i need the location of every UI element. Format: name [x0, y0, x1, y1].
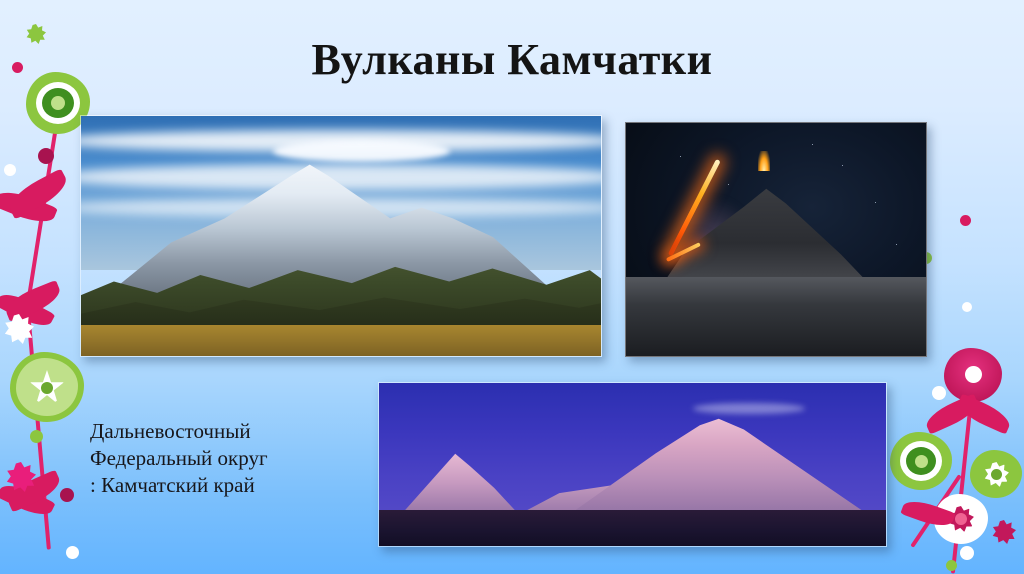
- white-flower-icon: [934, 494, 988, 544]
- photo-snow-capped-volcano-daytime[interactable]: [80, 115, 602, 357]
- pink-flower-icon: [944, 348, 1002, 402]
- flower-stem-branch: [910, 474, 961, 548]
- green-dot-icon: [30, 430, 43, 443]
- lenticular-cloud-shape: [273, 140, 450, 162]
- white-dot-icon: [962, 302, 972, 312]
- leaf-shape: [2, 280, 64, 322]
- green-flower-icon: [970, 450, 1022, 498]
- caption-line-2: Федеральный округ: [90, 445, 390, 472]
- leaf-shape: [900, 496, 955, 532]
- leaf-shape: [922, 393, 981, 434]
- green-flower-icon: [890, 432, 952, 490]
- magenta-dot-icon: [60, 488, 74, 502]
- flower-stem: [27, 131, 58, 300]
- tundra-layer: [81, 325, 601, 356]
- ash-apron-layer: [626, 277, 926, 356]
- leaf-shape: [0, 479, 56, 522]
- leaf-shape: [4, 470, 64, 513]
- star-dot: [842, 165, 843, 166]
- white-dot-icon: [932, 386, 946, 400]
- magenta-burst-icon: [992, 520, 1016, 544]
- pink-dot-icon: [960, 215, 971, 226]
- caption-line-3: : Камчатский край: [90, 472, 390, 499]
- star-dot: [728, 184, 729, 185]
- light-green-flower-icon: [10, 352, 84, 422]
- crater-glow-shape: [758, 151, 770, 171]
- presentation-slide: Вулканы Камчатки Да: [0, 0, 1024, 574]
- leaf-shape: [4, 168, 72, 219]
- pink-burst-icon: [6, 462, 36, 492]
- star-dot: [680, 156, 681, 157]
- star-dot: [812, 144, 813, 145]
- slide-title: Вулканы Камчатки: [0, 34, 1024, 85]
- green-dot-icon: [946, 560, 957, 571]
- flower-stem: [25, 300, 51, 549]
- white-burst-icon: [4, 314, 34, 344]
- foreground-layer: [379, 510, 886, 546]
- flower-stem: [951, 360, 977, 573]
- white-dot-icon: [960, 546, 974, 560]
- caption-line-1: Дальневосточный: [90, 418, 390, 445]
- white-dot-icon: [66, 546, 79, 559]
- leaf-shape: [954, 393, 1013, 434]
- leaf-shape: [0, 185, 58, 229]
- photo-alpenglow-volcanoes-twilight[interactable]: [378, 382, 887, 547]
- white-dot-icon: [4, 164, 16, 176]
- region-caption: Дальневосточный Федеральный округ : Камч…: [90, 418, 390, 499]
- photo-erupting-volcano-night[interactable]: [625, 122, 927, 357]
- lenticular-cloud-shape: [693, 403, 805, 414]
- magenta-burst-icon: [38, 148, 54, 164]
- leaf-shape: [0, 288, 55, 333]
